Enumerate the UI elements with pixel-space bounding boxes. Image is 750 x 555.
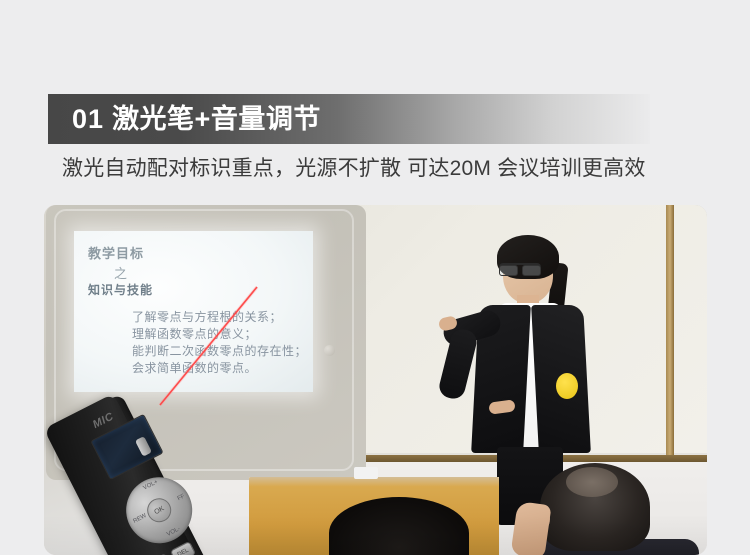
- section-banner-title: 01 激光笔+音量调节: [48, 106, 321, 133]
- device-brand-label: MIC: [91, 411, 116, 432]
- slide-title-line3: 知识与技能: [88, 281, 153, 298]
- slide-title-line1: 教学目标: [88, 243, 144, 262]
- presenter-armband: [556, 373, 578, 399]
- whiteboard-frame-icon: [666, 205, 674, 463]
- slide-body-line: 会求简单函数的零点。: [132, 360, 307, 377]
- section-number: 01: [72, 104, 104, 134]
- slide-body-line: 能判断二次函数零点的存在性；: [132, 343, 307, 360]
- section-title-text: 激光笔+音量调节: [112, 104, 321, 134]
- slide-body-line: 了解零点与方程根的关系；: [132, 309, 307, 326]
- product-detail-page: 01 激光笔+音量调节 激光自动配对标识重点，光源不扩散 可达20M 会议培训更…: [0, 0, 750, 555]
- photo-bottom-shade: [44, 515, 707, 555]
- presenter-forearm: [437, 327, 479, 401]
- dpad-right-label[interactable]: FF: [177, 494, 186, 503]
- audience-right-bald-spot: [566, 467, 618, 497]
- slide-body-line: 理解函数零点的意义；: [132, 326, 307, 343]
- slide-title-line2: 之: [114, 263, 128, 282]
- feature-photo: 教学目标 之 知识与技能 了解零点与方程根的关系； 理解函数零点的意义； 能判断…: [44, 205, 707, 555]
- screen-knob-icon: [324, 345, 335, 356]
- section-banner: 01 激光笔+音量调节: [48, 94, 650, 144]
- slide-body: 了解零点与方程根的关系； 理解函数零点的意义； 能判断二次函数零点的存在性； 会…: [132, 309, 307, 377]
- presenter-glasses-icon: [499, 263, 541, 272]
- projected-slide: 教学目标 之 知识与技能 了解零点与方程根的关系； 理解函数零点的意义； 能判断…: [74, 231, 313, 392]
- podium-item: [354, 467, 378, 479]
- dpad-up-label[interactable]: VOL+: [142, 479, 159, 491]
- section-subtitle: 激光自动配对标识重点，光源不扩散 可达20M 会议培训更高效: [62, 152, 646, 182]
